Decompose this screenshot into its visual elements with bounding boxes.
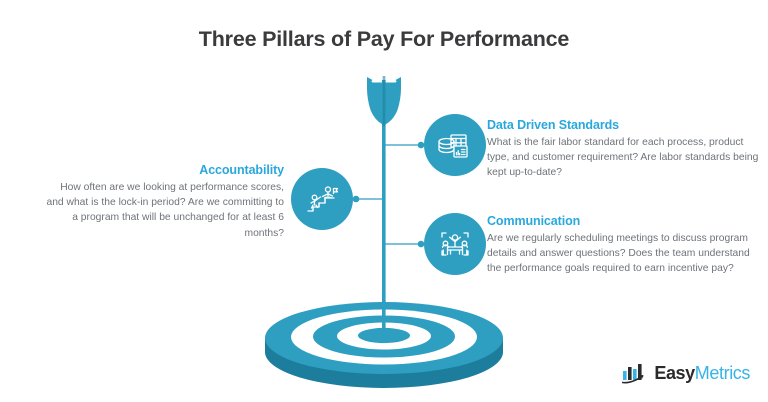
pillar-body: Are we regularly scheduling meetings to … — [487, 231, 763, 277]
icon-communication[interactable] — [424, 213, 486, 275]
logo-name-primary: Easy — [654, 363, 694, 383]
pillar-accountability: Accountability How often are we looking … — [44, 163, 284, 241]
database-report-icon — [435, 125, 475, 165]
dart-shaft — [382, 80, 386, 342]
pillar-heading: Communication — [487, 214, 763, 228]
easymetrics-logo[interactable]: EasyMetrics — [622, 362, 750, 384]
bar-chart-logo-icon — [622, 362, 648, 384]
pillar-heading: Data Driven Standards — [487, 118, 759, 132]
connector-communication — [384, 241, 424, 248]
logo-wordmark: EasyMetrics — [654, 363, 750, 384]
dart-tip — [382, 300, 386, 338]
dart-arrow-icon — [367, 76, 401, 126]
pillar-heading: Accountability — [44, 163, 284, 177]
infographic-canvas: Three Pillars of Pay For Performance — [0, 0, 768, 402]
bullseye-target — [265, 302, 503, 388]
icon-data-driven-standards[interactable] — [424, 114, 486, 176]
connector-accountability — [353, 196, 384, 203]
connector-data-driven — [384, 142, 424, 149]
pillar-communication: Communication Are we regularly schedulin… — [487, 214, 763, 277]
team-meeting-icon — [435, 224, 475, 264]
pillar-data-driven-standards: Data Driven Standards What is the fair l… — [487, 118, 759, 181]
helping-hand-steps-icon — [302, 179, 342, 219]
pillar-body: How often are we looking at performance … — [44, 180, 284, 241]
pillar-body: What is the fair labor standard for each… — [487, 135, 759, 181]
page-title: Three Pillars of Pay For Performance — [0, 27, 768, 52]
icon-accountability[interactable] — [291, 168, 353, 230]
logo-name-secondary: Metrics — [695, 363, 750, 383]
